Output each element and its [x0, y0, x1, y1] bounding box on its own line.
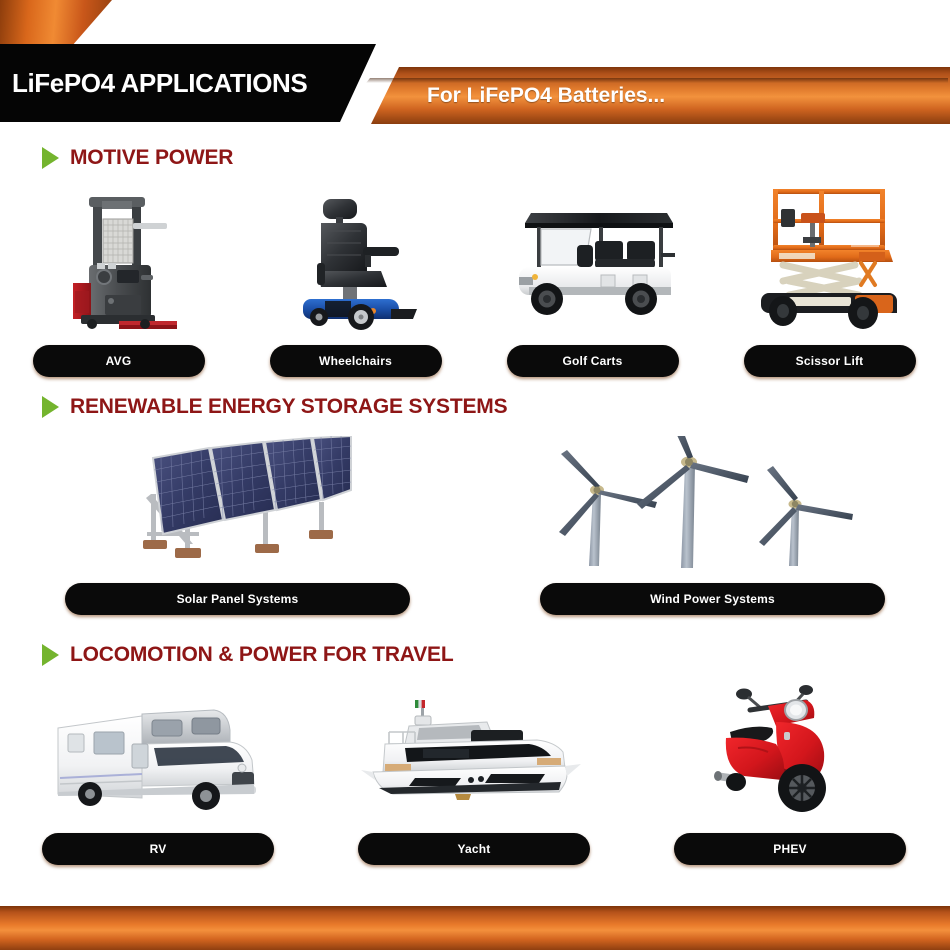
- item-golf-carts[interactable]: Golf Carts: [474, 191, 711, 377]
- triangle-bullet-icon: [42, 396, 59, 418]
- header-ribbon-shadow: [356, 78, 948, 83]
- item-phev[interactable]: PHEV: [632, 686, 948, 865]
- label-pill-avg[interactable]: AVG: [33, 345, 205, 377]
- row-renewable-energy: Solar Panel Systems: [0, 436, 950, 615]
- item-rv[interactable]: RV: [0, 686, 316, 865]
- section-motive-power: MOTIVE POWER: [0, 143, 950, 377]
- item-solar-panel-systems[interactable]: Solar Panel Systems: [0, 436, 475, 615]
- solar-panel-array-illustration: [0, 436, 475, 571]
- label-pill-solar-panel-systems[interactable]: Solar Panel Systems: [65, 583, 410, 615]
- header-title-plate: LiFePO4 APPLICATIONS: [0, 44, 376, 122]
- label-pill-yacht[interactable]: Yacht: [358, 833, 590, 865]
- triangle-bullet-icon: [42, 644, 59, 666]
- section-title-renewable-energy: RENEWABLE ENERGY STORAGE SYSTEMS: [70, 395, 507, 419]
- section-header-locomotion: LOCOMOTION & POWER FOR TRAVEL: [0, 640, 950, 670]
- forklift-illustration: [0, 191, 237, 331]
- section-title-motive-power: MOTIVE POWER: [70, 146, 233, 170]
- power-wheelchair-illustration: [237, 191, 474, 331]
- item-avg[interactable]: AVG: [0, 191, 237, 377]
- bottom-accent-bar: [0, 904, 950, 950]
- scooter-illustration: [632, 686, 948, 821]
- item-wheelchairs[interactable]: Wheelchairs: [237, 191, 474, 377]
- label-pill-wheelchairs[interactable]: Wheelchairs: [270, 345, 442, 377]
- row-motive-power: AVG: [0, 191, 950, 377]
- golf-cart-illustration: [474, 191, 711, 331]
- wind-turbines-illustration: [475, 436, 950, 571]
- label-pill-wind-power-systems[interactable]: Wind Power Systems: [540, 583, 885, 615]
- item-yacht[interactable]: Yacht: [316, 686, 632, 865]
- item-scissor-lift[interactable]: Scissor Lift: [711, 191, 948, 377]
- section-header-motive-power: MOTIVE POWER: [0, 143, 950, 173]
- row-locomotion: RV: [0, 686, 950, 865]
- section-renewable-energy: RENEWABLE ENERGY STORAGE SYSTEMS: [0, 392, 950, 615]
- label-pill-rv[interactable]: RV: [42, 833, 274, 865]
- label-pill-scissor-lift[interactable]: Scissor Lift: [744, 345, 916, 377]
- item-wind-power-systems[interactable]: Wind Power Systems: [475, 436, 950, 615]
- section-header-renewable-energy: RENEWABLE ENERGY STORAGE SYSTEMS: [0, 392, 950, 422]
- label-pill-golf-carts[interactable]: Golf Carts: [507, 345, 679, 377]
- infographic-page: LiFePO4 APPLICATIONS For LiFePO4 Batteri…: [0, 0, 950, 950]
- page-title: LiFePO4 APPLICATIONS: [0, 68, 307, 99]
- section-locomotion: LOCOMOTION & POWER FOR TRAVEL: [0, 640, 950, 865]
- header-subtitle-ribbon: For LiFePO4 Batteries...: [355, 67, 950, 124]
- label-pill-phev[interactable]: PHEV: [674, 833, 906, 865]
- top-white-strip: [0, 0, 950, 44]
- motorhome-illustration: [0, 686, 316, 821]
- triangle-bullet-icon: [42, 147, 59, 169]
- section-title-locomotion: LOCOMOTION & POWER FOR TRAVEL: [70, 643, 453, 667]
- scissor-lift-illustration: [711, 191, 948, 331]
- header-banner: LiFePO4 APPLICATIONS For LiFePO4 Batteri…: [0, 44, 950, 122]
- page-subtitle: For LiFePO4 Batteries...: [355, 84, 665, 108]
- yacht-illustration: [316, 686, 632, 821]
